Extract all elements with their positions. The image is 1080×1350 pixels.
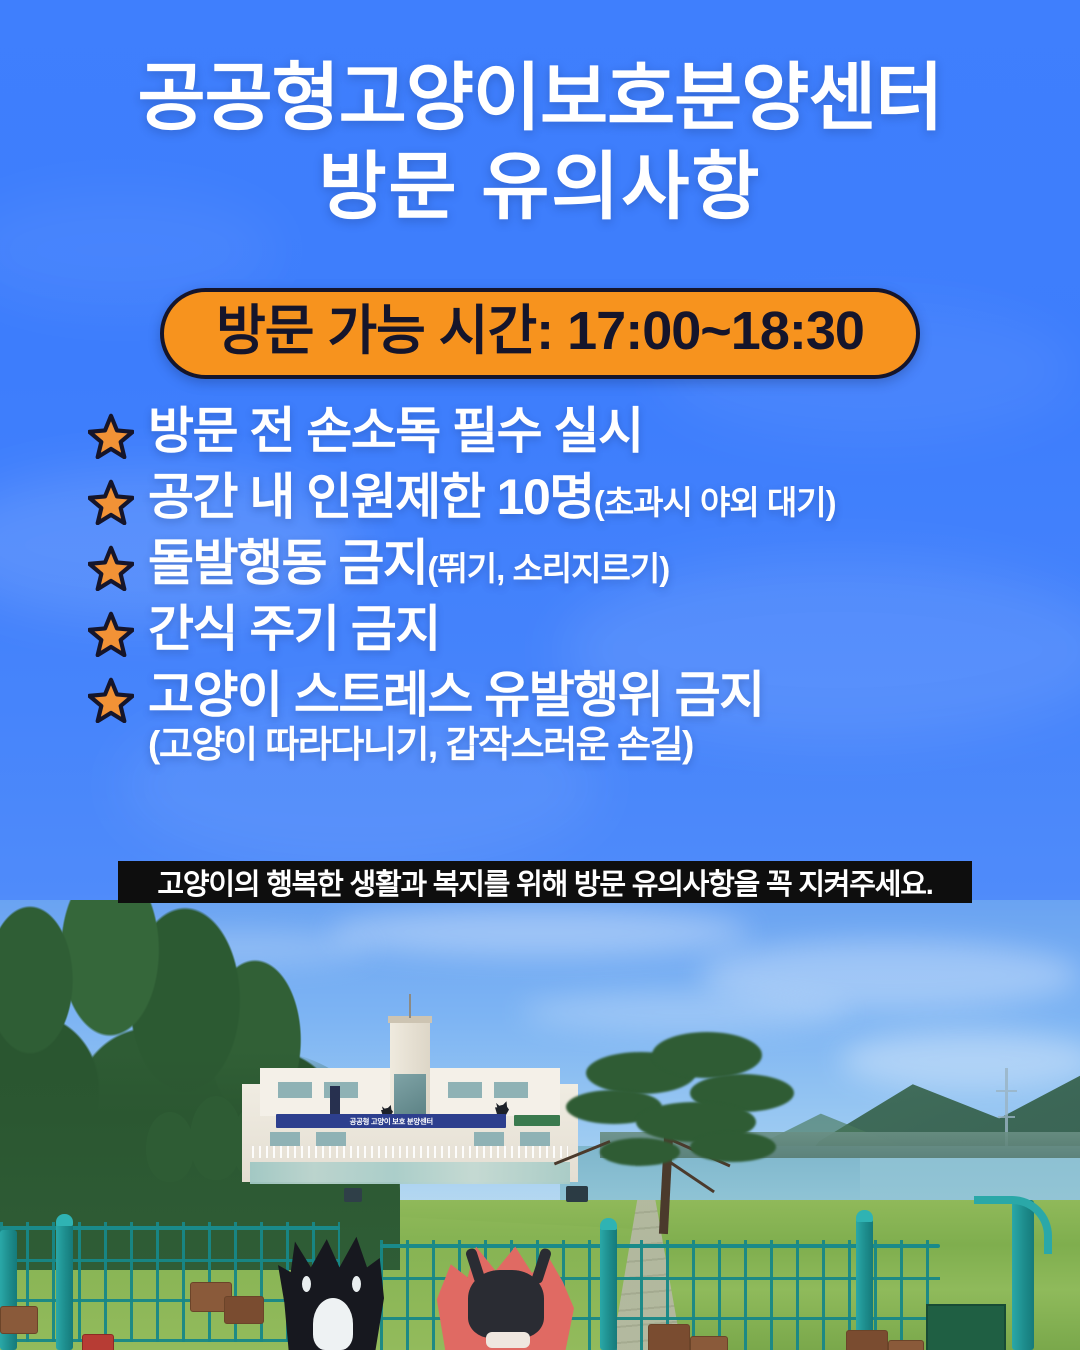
building-window (474, 1132, 504, 1146)
wooden-tag (82, 1334, 114, 1350)
tree-branch (665, 1158, 715, 1193)
fence-rail (0, 1226, 340, 1230)
rule-main-text: 간식 주기 금지 (148, 601, 440, 657)
building-window (278, 1082, 312, 1098)
list-item-body: 간식 주기 금지 (148, 602, 1040, 657)
tower-glass-window (394, 1074, 426, 1114)
rule-text: 공간 내 인원제한 10명(초과시 야외 대기) (148, 470, 1040, 525)
fence-post-cap (856, 1210, 873, 1222)
list-item-body: 고양이 스트레스 유발행위 금지 (고양이 따라다니기, 갑작스러운 손길) (148, 668, 1040, 766)
foreground-pine-tree (540, 1028, 800, 1228)
cat-eye (352, 1276, 361, 1292)
star-icon (88, 611, 134, 657)
list-item-body: 공간 내 인원제한 10명(초과시 야외 대기) (148, 470, 1040, 525)
wooden-tag (846, 1330, 888, 1350)
rule-main-text: 돌발행동 금지 (148, 535, 427, 591)
building-flag (330, 1086, 340, 1116)
building-window (448, 1082, 482, 1098)
fence-post-cap (600, 1218, 617, 1230)
rule-sub-text: (초과시 야외 대기) (594, 484, 836, 521)
building-mast (409, 994, 411, 1018)
building-window (494, 1082, 528, 1098)
star-icon (88, 479, 134, 525)
cat-hood (468, 1270, 544, 1338)
list-item-body: 돌발행동 금지(뛰기, 소리지르기) (148, 536, 1040, 591)
rule-text: 간식 주기 금지 (148, 602, 1040, 657)
green-info-sign (926, 1304, 1006, 1350)
rule-note-text: (고양이 따라다니기, 갑작스러운 손길) (148, 725, 1040, 766)
visiting-hours-badge: 방문 가능 시간: 17:00~18:30 (160, 288, 920, 379)
building-railing (252, 1146, 568, 1158)
rule-sub-text: (뛰기, 소리지르기) (427, 550, 669, 587)
cat-strap (486, 1332, 530, 1348)
title-line-2: 방문 유의사항 (0, 151, 1080, 224)
cat-eye (302, 1276, 311, 1292)
small-tree (146, 1112, 194, 1182)
building-window (316, 1132, 346, 1146)
rule-text: 돌발행동 금지(뛰기, 소리지르기) (148, 536, 1040, 591)
building-sign-text: 공공형 고양이 보호 분양센터 (349, 1116, 432, 1126)
rule-text: 고양이 스트레스 유발행위 금지 (148, 668, 1040, 723)
page-title: 공공형고양이보호분양센터 방문 유의사항 (0, 62, 1080, 223)
rule-text: 방문 전 손소독 필수 실시 (148, 404, 1040, 459)
title-line-1: 공공형고양이보호분양센터 (0, 62, 1080, 135)
footer-banner: 고양이의 행복한 생활과 복지를 위해 방문 유의사항을 꼭 지켜주세요. (118, 861, 972, 903)
mural-wall (250, 1162, 570, 1184)
tree-foliage (600, 1138, 680, 1166)
list-item: 공간 내 인원제한 10명(초과시 야외 대기) (88, 470, 1040, 525)
tree-foliage (690, 1132, 776, 1162)
list-item: 간식 주기 금지 (88, 602, 1040, 657)
wooden-tag (690, 1336, 728, 1350)
building-window (270, 1132, 300, 1146)
photo-cloud (330, 908, 750, 956)
list-item: 고양이 스트레스 유발행위 금지 (고양이 따라다니기, 갑작스러운 손길) (88, 668, 1040, 766)
rules-list: 방문 전 손소독 필수 실시 공간 내 인원제한 10명(초과시 야외 대기) … (88, 404, 1040, 777)
star-icon (88, 545, 134, 591)
fence-post (56, 1222, 73, 1350)
tree-foliage (652, 1032, 762, 1078)
rule-main-text: 고양이 스트레스 유발행위 금지 (148, 667, 764, 723)
star-icon (88, 677, 134, 723)
list-item: 돌발행동 금지(뛰기, 소리지르기) (88, 536, 1040, 591)
building-name-sign: 공공형 고양이 보호 분양센터 (276, 1114, 506, 1128)
wooden-tag (648, 1324, 690, 1350)
hours-badge-container: 방문 가능 시간: 17:00~18:30 (0, 288, 1080, 379)
rule-main-text: 공간 내 인원제한 10명 (148, 469, 594, 525)
poster-root: 공공형고양이보호분양센터 방문 유의사항 방문 가능 시간: 17:00~18:… (0, 0, 1080, 1350)
site-photograph: 공공형 고양이 보호 분양센터 (0, 900, 1080, 1350)
fence-post (600, 1226, 617, 1350)
cat-belly-patch (313, 1298, 353, 1350)
wooden-tag (888, 1340, 924, 1350)
wooden-tag (0, 1306, 38, 1334)
photo-cloud (520, 992, 850, 1032)
footer-banner-text: 고양이의 행복한 생활과 복지를 위해 방문 유의사항을 꼭 지켜주세요. (157, 861, 932, 903)
star-icon (88, 413, 134, 459)
shelter-building: 공공형 고양이 보호 분양센터 (242, 1052, 578, 1182)
rule-main-text: 방문 전 손소독 필수 실시 (148, 403, 643, 459)
fence-post-cap (56, 1214, 73, 1226)
list-item: 방문 전 손소독 필수 실시 (88, 404, 1040, 459)
wooden-tag (224, 1296, 264, 1324)
list-item-body: 방문 전 손소독 필수 실시 (148, 404, 1040, 459)
